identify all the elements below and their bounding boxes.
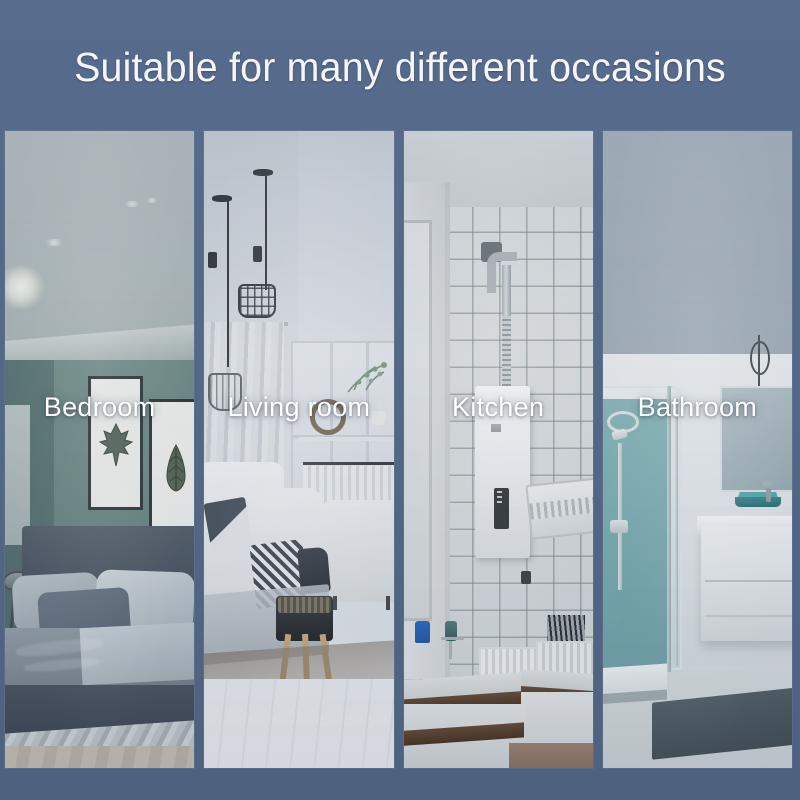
pendant-socket: [208, 252, 217, 268]
pendant-rod: [227, 201, 229, 367]
bathroom-scene-image: [603, 131, 792, 768]
bathroom-vanity-cabinet: [701, 526, 792, 641]
detergent-bottle: [415, 621, 430, 643]
occasion-panel-bedroom[interactable]: Bedroom: [5, 131, 194, 768]
bathroom-ceiling: [603, 131, 792, 360]
occasion-panel-bathroom[interactable]: Bathroom: [603, 131, 792, 768]
armchair-leg: [333, 596, 337, 610]
faucet-spout: [441, 637, 464, 640]
bedroom-wood-floor: [5, 746, 194, 768]
faucet-body: [449, 641, 452, 659]
bedroom-scene-image: [5, 131, 194, 768]
pendant-socket: [253, 246, 262, 262]
occasion-panel-living-room[interactable]: Living room: [204, 131, 393, 768]
pendant-lamp-rim: [735, 497, 780, 507]
water-heater-logo: [491, 424, 501, 432]
panel-caption-bedroom: Bedroom: [5, 393, 194, 421]
armchair-leg: [386, 596, 390, 610]
water-heater-control-panel: [494, 488, 509, 529]
kitchen-scene-image: [404, 131, 593, 768]
panel-caption-living-room: Living room: [204, 393, 393, 421]
ceiling-downlight-icon: [145, 198, 159, 203]
collage-canvas: Suitable for many different occasions: [0, 0, 800, 800]
armchair: [322, 500, 394, 602]
panel-caption-bathroom: Bathroom: [603, 393, 792, 421]
basin-tap-head: [762, 481, 773, 486]
vanity-drawer-seam: [705, 580, 792, 582]
living-room-floor: [204, 679, 393, 768]
pendant-rod: [265, 176, 267, 291]
shower-frame-post: [667, 386, 671, 673]
bed-sheet: [79, 621, 194, 685]
basin-tap: [766, 488, 771, 502]
fern-leaf-icon: [163, 444, 189, 492]
plant-icon: [344, 360, 390, 394]
living-room-scene-image: [204, 131, 393, 768]
bedroom-doorway: [5, 405, 30, 545]
vanity-drawer-seam: [705, 615, 792, 617]
page-title: Suitable for many different occasions: [16, 45, 784, 89]
cage-pendant-light: [238, 284, 276, 318]
kitchen-floor: [509, 743, 592, 768]
flue-flexible-section: [502, 316, 511, 386]
panel-caption-kitchen: Kitchen: [404, 393, 593, 421]
occasion-panel-strip: Bedroom: [5, 131, 792, 768]
wall-outlet: [521, 571, 531, 584]
living-room-shelf: [299, 437, 394, 441]
pendant-ceiling-mount: [253, 169, 273, 176]
stool-seat-texture: [278, 597, 331, 613]
occasion-panel-kitchen[interactable]: Kitchen: [404, 131, 593, 768]
shower-frame-post: [675, 399, 678, 667]
maple-leaf-icon: [99, 422, 133, 468]
